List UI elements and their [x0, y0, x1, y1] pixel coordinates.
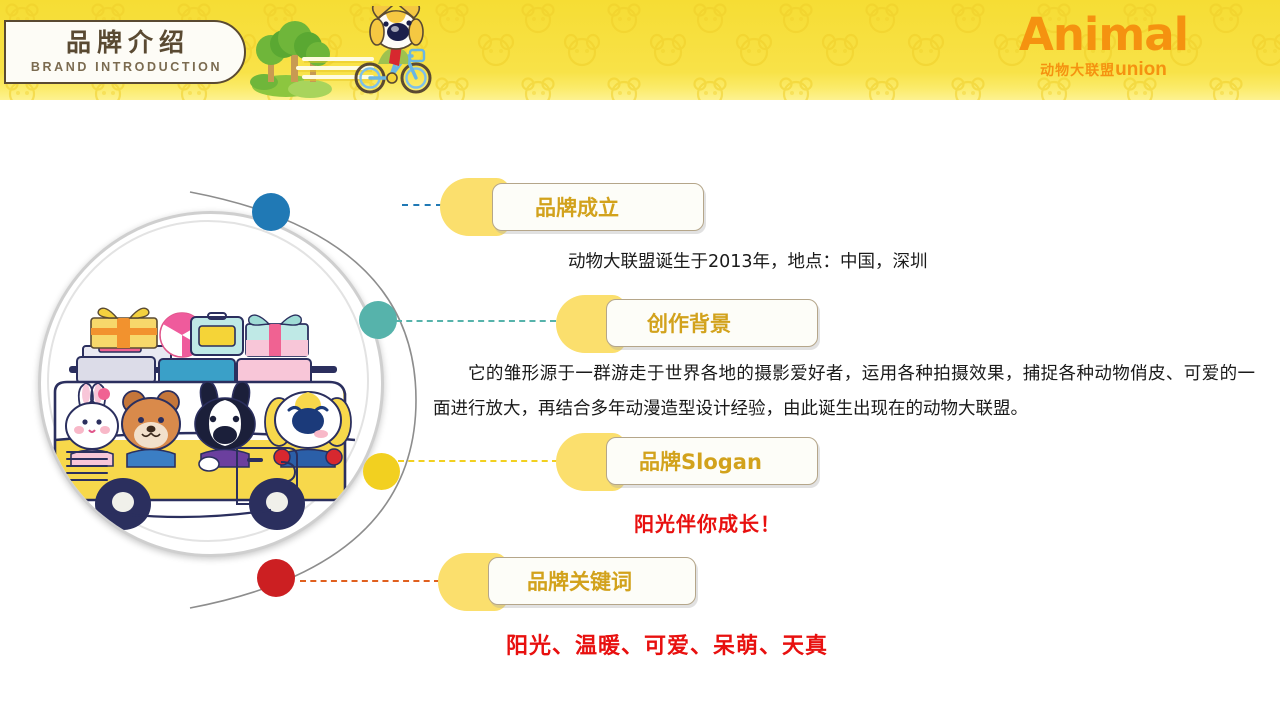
logo-wordmark: Animal [1019, 12, 1188, 57]
section-2-label-box[interactable]: 创作背景 [606, 299, 818, 347]
header-banner: 品牌介绍 BRAND INTRODUCTION Animal 动物大联盟unio… [0, 0, 1280, 100]
van-with-animals-illustration [41, 214, 375, 548]
connector-dash-3 [398, 460, 558, 462]
banner-illustration [246, 6, 442, 98]
section-2-label: 创作背景 [647, 308, 731, 338]
section-4-label-box[interactable]: 品牌关键词 [488, 557, 696, 605]
brand-logo: Animal 动物大联盟union [1019, 12, 1188, 81]
section-3-label-box[interactable]: 品牌Slogan [606, 437, 818, 485]
illustration-area [18, 175, 438, 625]
logo-sub-cn: 动物大联盟 [1040, 62, 1115, 78]
section-1-body: 动物大联盟诞生于2013年，地点：中国，深圳 [568, 245, 928, 279]
logo-subtext: 动物大联盟union [1019, 59, 1188, 81]
section-2-body: 它的雏形源于一群游走于世界各地的摄影爱好者，运用各种拍摄效果，捕捉各种动物俏皮、… [433, 357, 1255, 427]
section-3-body: 阳光伴你成长！ [634, 508, 781, 537]
section-1-label: 品牌成立 [535, 192, 619, 222]
page-title-en: BRAND INTRODUCTION [31, 60, 222, 74]
logo-sub-en: union [1115, 59, 1167, 80]
section-4-body: 阳光、温暖、可爱、呆萌、天真 [506, 628, 828, 660]
connector-dash-4 [300, 580, 440, 582]
connector-dot-1 [252, 193, 290, 231]
section-3-label: 品牌Slogan [639, 446, 762, 476]
connector-dot-2 [359, 301, 397, 339]
section-1-label-box[interactable]: 品牌成立 [492, 183, 704, 231]
connector-dash-1 [402, 204, 442, 206]
connector-dot-3 [363, 453, 400, 490]
connector-dot-4 [257, 559, 295, 597]
connector-dash-2 [396, 320, 556, 322]
brand-photo-circle [38, 211, 384, 557]
page-title-cn: 品牌介绍 [66, 30, 190, 56]
page-title-pill: 品牌介绍 BRAND INTRODUCTION [4, 20, 246, 84]
section-4-label: 品牌关键词 [527, 566, 632, 596]
